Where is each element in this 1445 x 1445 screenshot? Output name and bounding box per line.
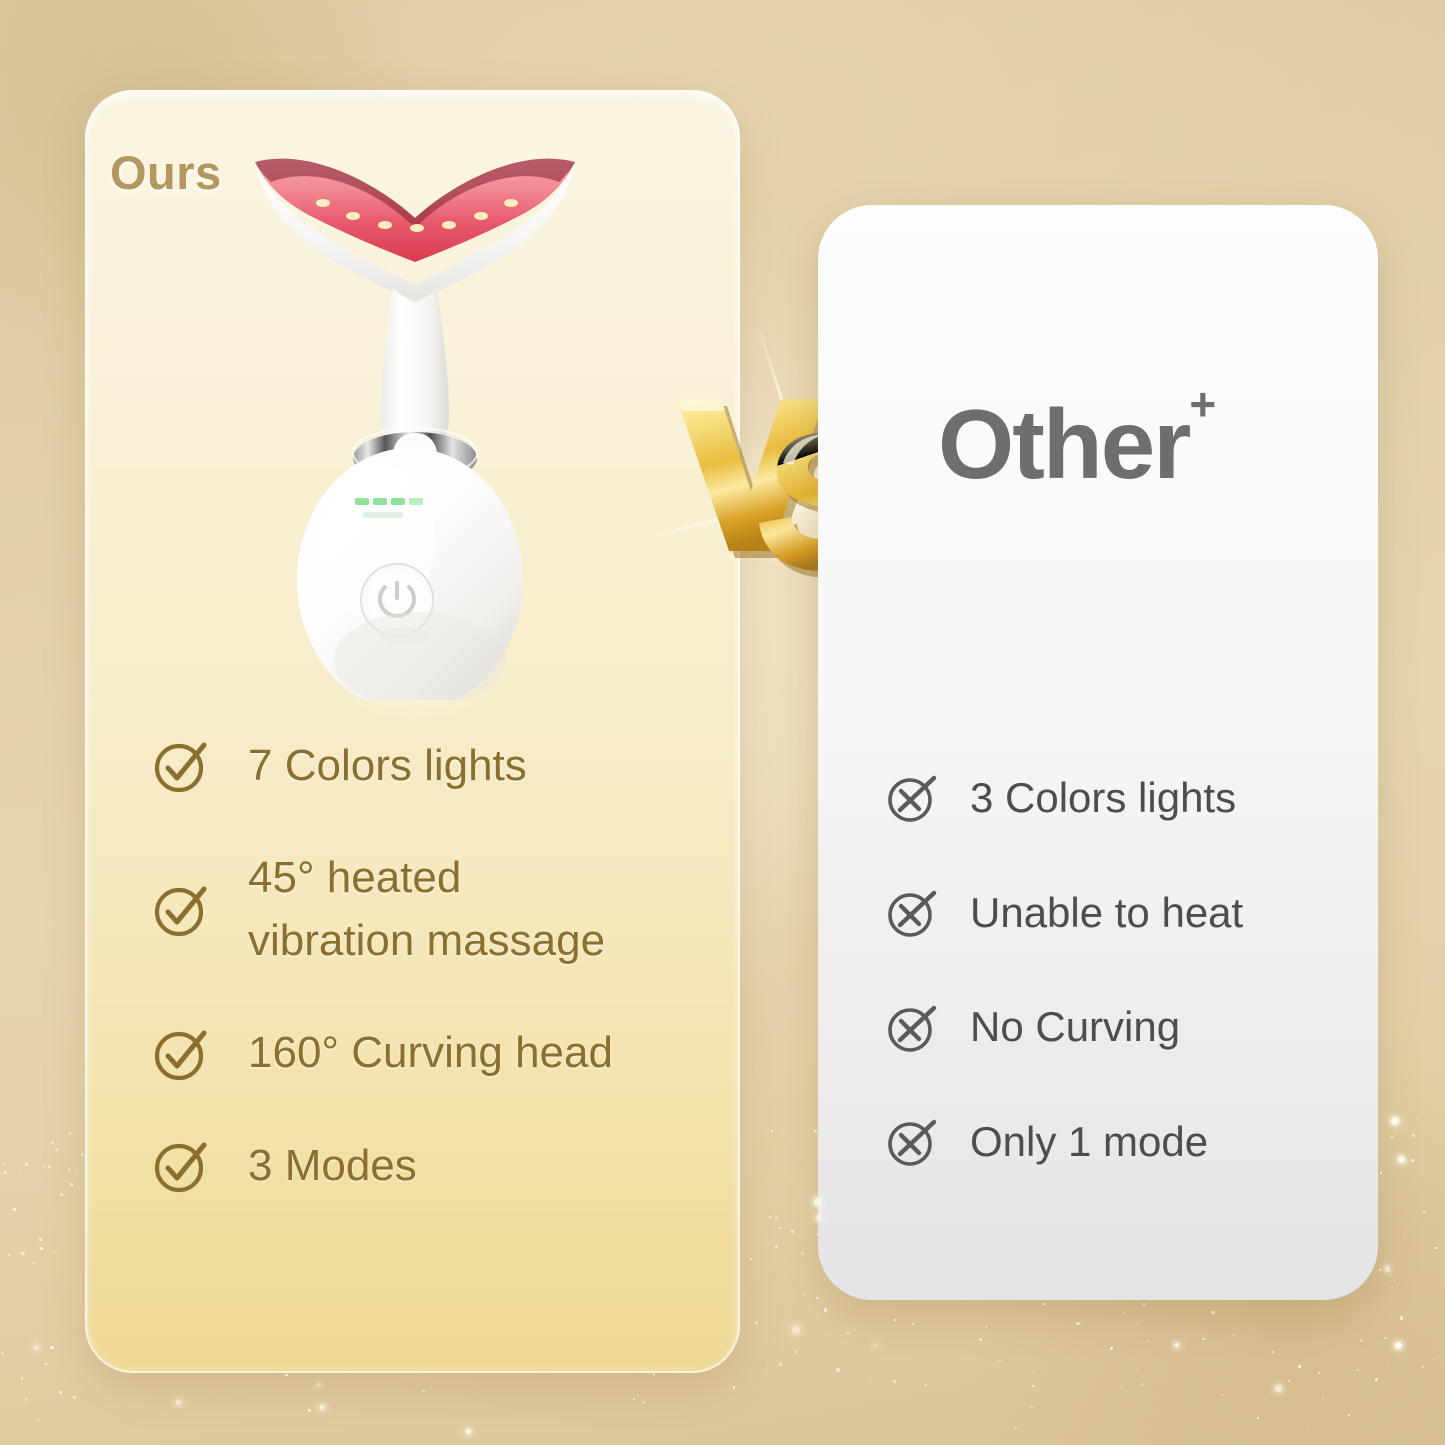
list-item-label: 45° heated vibration massage xyxy=(248,847,605,972)
check-circle-icon xyxy=(152,1025,210,1083)
other-panel-title: Other+ xyxy=(938,395,1214,493)
other-panel-title-text: Other xyxy=(938,389,1189,499)
list-item: 3 Colors lights xyxy=(886,770,1356,827)
list-item: No Curving xyxy=(886,999,1356,1056)
product-image-neck-beauty-device xyxy=(245,140,585,700)
list-item: Unable to heat xyxy=(886,885,1356,942)
list-item-label: 3 Modes xyxy=(248,1135,417,1197)
list-item: 7 Colors lights xyxy=(152,735,732,797)
list-item: Only 1 mode xyxy=(886,1114,1356,1171)
comparison-infographic: Ours xyxy=(0,0,1445,1445)
list-item-label: 3 Colors lights xyxy=(970,770,1236,827)
ours-feature-list: 7 Colors lights 45° heated vibration mas… xyxy=(152,735,732,1197)
list-item-label: 7 Colors lights xyxy=(248,735,527,797)
ours-panel-title: Ours xyxy=(110,145,222,200)
check-circle-icon xyxy=(152,1137,210,1195)
other-panel-title-superscript: + xyxy=(1189,378,1214,430)
cross-circle-icon xyxy=(886,772,938,824)
other-feature-list: 3 Colors lights Unable to heat No Curvin… xyxy=(886,770,1356,1171)
list-item-label: Unable to heat xyxy=(970,885,1243,942)
list-item-label: No Curving xyxy=(970,999,1180,1056)
cross-circle-icon xyxy=(886,1002,938,1054)
cross-circle-icon xyxy=(886,1116,938,1168)
list-item: 160° Curving head xyxy=(152,1022,732,1084)
list-item-label: Only 1 mode xyxy=(970,1114,1208,1171)
list-item-label: 160° Curving head xyxy=(248,1022,613,1084)
list-item: 3 Modes xyxy=(152,1135,732,1197)
check-circle-icon xyxy=(152,737,210,795)
list-item: 45° heated vibration massage xyxy=(152,847,732,972)
cross-circle-icon xyxy=(886,887,938,939)
check-circle-icon xyxy=(152,881,210,939)
